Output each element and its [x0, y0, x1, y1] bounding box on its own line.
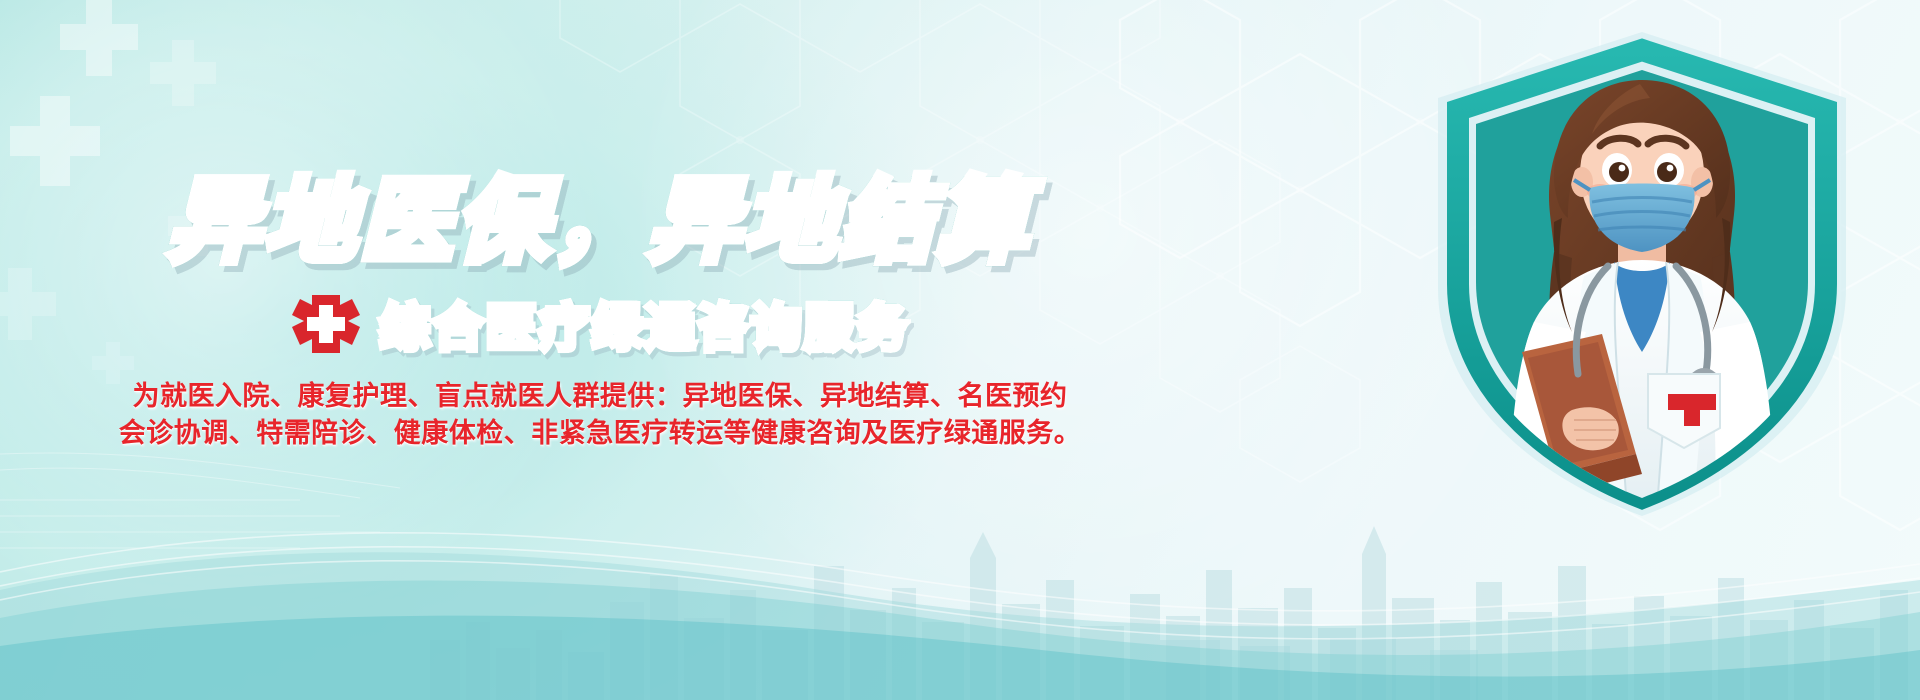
- page-subtitle: 综合医疗绿通咨询服务: [380, 288, 910, 360]
- service-description-line-1: 为就医入院、康复护理、盲点就医人群提供：异地医保、异地结算、名医预约: [0, 378, 1200, 415]
- page-title: 异地医保，异地结算: [0, 176, 1200, 268]
- service-description: 为就医入院、康复护理、盲点就医人群提供：异地医保、异地结算、名医预约 会诊协调、…: [0, 378, 1200, 452]
- medical-service-banner: 异地医保，异地结算 综合医疗绿通咨询服务 为就医入院、康复护理、盲点就医人群提供…: [0, 0, 1920, 700]
- service-description-line-2: 会诊协调、特需陪诊、健康体检、非紧急医疗转运等健康咨询及医疗绿通服务。: [0, 415, 1200, 452]
- subtitle-row: 综合医疗绿通咨询服务: [0, 288, 1200, 360]
- red-cross-badge-icon: [290, 289, 362, 359]
- banner-text-content: 异地医保，异地结算 综合医疗绿通咨询服务 为就医入院、康复护理、盲点就医人群提供…: [0, 0, 1230, 700]
- doctor-illustration-group: [1422, 22, 1862, 522]
